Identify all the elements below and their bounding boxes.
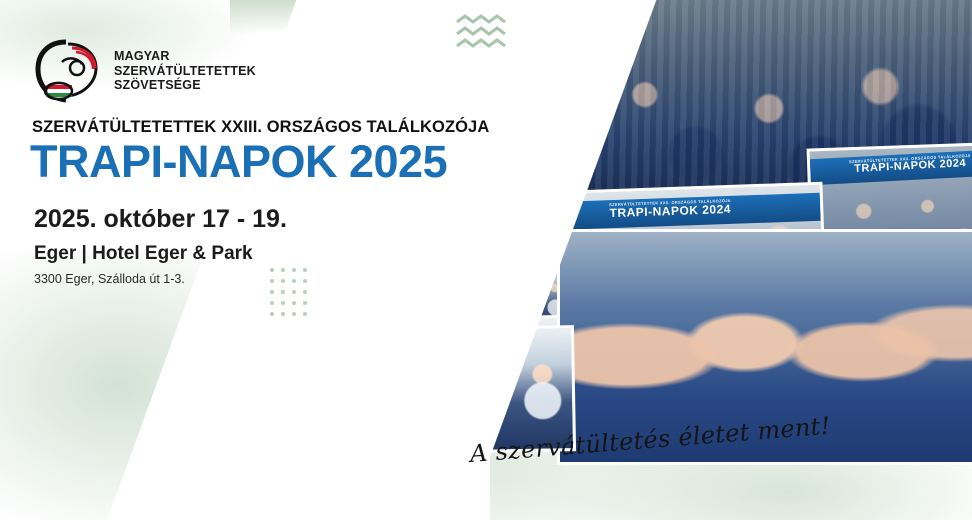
poster-canvas: SZERVÁTÜLTETETTEK XXII. ORSZÁGOS TALÁLKO… — [0, 0, 972, 520]
event-date: 2025. október 17 - 19. — [34, 205, 287, 234]
organization-logo: MAGYAR SZERVÁTÜLTETETTEK SZÖVETSÉGE — [32, 38, 256, 104]
zigzag-wave-icon — [455, 14, 511, 54]
white-block-lower-left — [290, 300, 490, 520]
logo-line-3: SZÖVETSÉGE — [114, 78, 256, 93]
logo-line-2: SZERVÁTÜLTETETTEK — [114, 64, 256, 79]
organ-transplant-emblem-icon — [32, 38, 104, 104]
handwritten-slogan: A szervátültetés életet ment! — [470, 440, 810, 496]
page-title: TRAPI-NAPOK 2025 — [30, 136, 447, 188]
logo-line-1: MAGYAR — [114, 49, 256, 64]
event-address: 3300 Eger, Szálloda út 1-3. — [34, 272, 185, 286]
dot-grid-icon — [270, 268, 314, 323]
event-kicker: SZERVÁTÜLTETETTEK XXIII. ORSZÁGOS TALÁLK… — [32, 118, 489, 137]
event-venue: Eger | Hotel Eger & Park — [34, 243, 253, 265]
